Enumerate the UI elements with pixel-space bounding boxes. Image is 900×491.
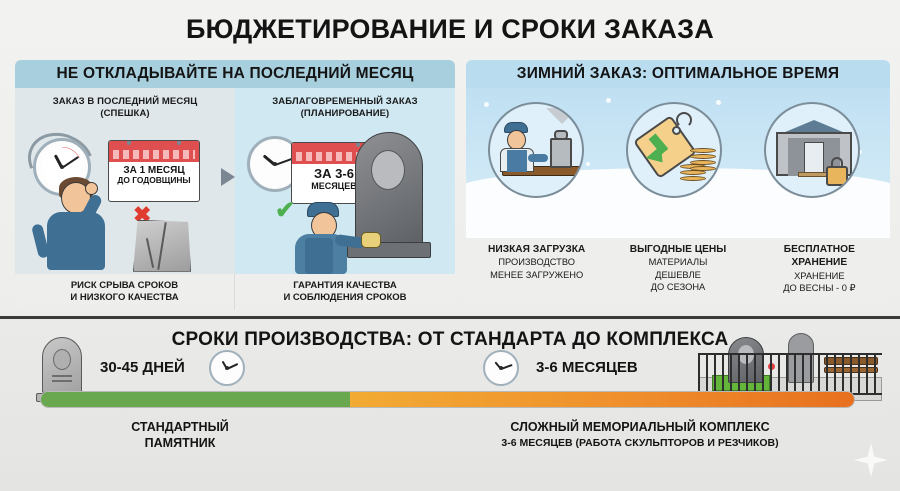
- rush-subtitle-line2: (СПЕШКА): [15, 108, 235, 120]
- calendar-badge-line2: ДО ГОДОВЩИНЫ: [109, 176, 199, 185]
- clock-center: [60, 165, 64, 169]
- planned-subtitle: ЗАБЛАГОВРЕМЕННЫЙ ЗАКАЗ (ПЛАНИРОВАНИЕ): [235, 88, 455, 120]
- benefit-1: НИЗКАЯ ЗАГРУЗКА ПРОИЗВОДСТВО МЕНЕЕ ЗАГРУ…: [466, 238, 607, 310]
- production-timeline-section: СРОКИ ПРОИЗВОДСТВА: ОТ СТАНДАРТА ДО КОМП…: [0, 316, 900, 491]
- planned-subtitle-line1: ЗАБЛАГОВРЕМЕННЫЙ ЗАКАЗ: [235, 96, 455, 108]
- lock-shackle-icon: [831, 157, 843, 167]
- rush-subtitle-line1: ЗАКАЗ В ПОСЛЕДНИЙ МЕСЯЦ: [15, 96, 235, 108]
- panel-do-not-delay: НЕ ОТКЛАДЫВАЙТЕ НА ПОСЛЕДНИЙ МЕСЯЦ ЗАКАЗ…: [15, 60, 455, 310]
- stored-monument: [804, 142, 824, 174]
- benefit-3: БЕСПЛАТНОЕ ХРАНЕНИЕ ХРАНЕНИЕ ДО ВЕСНЫ - …: [749, 238, 890, 310]
- timeline-clock-right-icon: [483, 350, 519, 386]
- calendar-ring-left: [127, 140, 131, 145]
- bottom-caption-standard-line2: ПАМЯТНИК: [90, 435, 270, 451]
- timeline-label-standard: 30-45 ДНЕЙ: [100, 359, 185, 376]
- calendar-grid: [113, 150, 195, 159]
- lock-icon: [826, 166, 848, 186]
- lamp-shade-icon: [546, 108, 578, 124]
- panel-left-header: НЕ ОТКЛАДЫВАЙТЕ НА ПОСЛЕДНИЙ МЕСЯЦ: [15, 60, 455, 88]
- benefit-1-line2: МЕНЕЕ ЗАГРУЖЕНО: [490, 270, 583, 280]
- column-rush-order: ЗАКАЗ В ПОСЛЕДНИЙ МЕСЯЦ (СПЕШКА): [15, 88, 235, 310]
- panel-right-header: ЗИМНИЙ ЗАКАЗ: ОПТИМАЛЬНОЕ ВРЕМЯ: [466, 60, 890, 88]
- machine-press: [550, 138, 572, 168]
- standard-monument-line1: [52, 375, 72, 377]
- planned-caption: ГАРАНТИЯ КАЧЕСТВА И СОБЛЮДЕНИЯ СРОКОВ: [235, 274, 455, 310]
- planned-caption-line1: ГАРАНТИЯ КАЧЕСТВА: [283, 280, 406, 292]
- column-planned-order: ЗАБЛАГОВРЕМЕННЫЙ ЗАКАЗ (ПЛАНИРОВАНИЕ): [235, 88, 455, 310]
- coin: [690, 148, 716, 153]
- icon-free-storage: [764, 102, 860, 198]
- timeline-clock-left-icon: [209, 350, 245, 386]
- complex-fence: [698, 353, 882, 395]
- panel-left-body: ЗАКАЗ В ПОСЛЕДНИЙ МЕСЯЦ (СПЕШКА): [15, 88, 455, 310]
- benefit-3-title2: ХРАНЕНИЕ: [749, 256, 890, 269]
- benefit-2-title: ВЫГОДНЫЕ ЦЕНЫ: [607, 243, 748, 256]
- calendar-ring-right: [177, 140, 181, 145]
- benefit-2-line3: ДО СЕЗОНА: [651, 282, 705, 292]
- standard-monument-line2: [52, 380, 72, 382]
- top-panels: НЕ ОТКЛАДЫВАЙТЕ НА ПОСЛЕДНИЙ МЕСЯЦ ЗАКАЗ…: [15, 60, 890, 310]
- circle1-worker-arm: [528, 154, 548, 162]
- rush-caption-line2: И НИЗКОГО КАЧЕСТВА: [70, 292, 178, 304]
- price-tag-string: [676, 112, 692, 128]
- panel-winter-order: ЗИМНИЙ ЗАКАЗ: ОПТИМАЛЬНОЕ ВРЕМЯ: [466, 60, 890, 310]
- timeline-track: [40, 391, 855, 408]
- benefit-3-title: БЕСПЛАТНОЕ: [749, 243, 890, 256]
- snowflake: [484, 102, 489, 107]
- planned-subtitle-line2: (ПЛАНИРОВАНИЕ): [235, 108, 455, 120]
- coin: [690, 160, 716, 165]
- coin: [690, 166, 716, 171]
- benefit-2-line2: ДЕШЕВЛЕ: [655, 270, 701, 280]
- rush-subtitle: ЗАКАЗ В ПОСЛЕДНИЙ МЕСЯЦ (СПЕШКА): [15, 88, 235, 120]
- benefit-3-line1: ХРАНЕНИЕ: [794, 271, 845, 281]
- calendar-1-month: ЗА 1 МЕСЯЦ ДО ГОДОВЩИНЫ: [108, 140, 200, 202]
- person-hand: [85, 182, 98, 195]
- rush-caption-line1: РИСК СРЫВА СРОКОВ: [70, 280, 178, 292]
- coin: [690, 154, 716, 159]
- circle1-worker-head: [507, 130, 526, 150]
- timeline-clock-right-center: [499, 366, 503, 370]
- lamp-cord: [561, 104, 563, 110]
- page-title: БЮДЖЕТИРОВАНИЕ И СРОКИ ЗАКАЗА: [0, 0, 900, 43]
- benefits-captions: НИЗКАЯ ЗАГРУЗКА ПРОИЗВОДСТВО МЕНЕЕ ЗАГРУ…: [466, 238, 890, 310]
- person-torso: [47, 212, 105, 270]
- bottom-caption-standard: СТАНДАРТНЫЙ ПАМЯТНИК: [90, 419, 270, 452]
- worker-overall: [305, 238, 333, 274]
- bottom-caption-complex-line1: СЛОЖНЫЙ МЕМОРИАЛЬНЫЙ КОМПЛЕКС: [440, 419, 840, 436]
- benefit-2-line1: МАТЕРИАЛЫ: [649, 257, 708, 267]
- check-mark-icon: ✔: [275, 196, 295, 225]
- planned-illustration: ЗА 3-6 МЕСЯЦЕВ ✔: [235, 120, 455, 270]
- planned-caption-line2: И СОБЛЮДЕНИЯ СРОКОВ: [283, 292, 406, 304]
- standard-monument-oval: [53, 349, 71, 370]
- calendar-header-band: [109, 141, 199, 163]
- snowflake: [606, 98, 611, 103]
- bottom-caption-standard-line1: СТАНДАРТНЫЙ: [90, 419, 270, 435]
- timeline-label-complex: 3-6 МЕСЯЦЕВ: [536, 359, 638, 376]
- icon-low-workload: [488, 102, 584, 198]
- panel-right-body: НИЗКАЯ ЗАГРУЗКА ПРОИЗВОДСТВО МЕНЕЕ ЗАГРУ…: [466, 88, 890, 310]
- monument-portrait-oval: [371, 150, 405, 190]
- calendar2-ring: [356, 142, 360, 147]
- coin: [680, 176, 706, 181]
- snowflake: [586, 162, 590, 166]
- planning-clock-center: [273, 162, 277, 166]
- sparkle-decoration-icon: [854, 443, 888, 477]
- machine-head: [554, 130, 568, 140]
- timeline-clock-left-center: [225, 366, 229, 370]
- rush-caption: РИСК СРЫВА СРОКОВ И НИЗКОГО КАЧЕСТВА: [15, 274, 235, 310]
- bottom-caption-complex-line2: 3-6 МЕСЯЦЕВ (РАБОТА СКУЛЬПТОРОВ И РЕЗЧИК…: [440, 436, 840, 450]
- rush-illustration: ЗА 1 МЕСЯЦ ДО ГОДОВЩИНЫ ✖: [15, 120, 235, 270]
- price-tag-hole: [672, 126, 681, 135]
- circle1-worker-overall: [507, 150, 527, 172]
- benefit-1-title: НИЗКАЯ ЗАГРУЗКА: [466, 243, 607, 256]
- benefit-2: ВЫГОДНЫЕ ЦЕНЫ МАТЕРИАЛЫ ДЕШЕВЛЕ ДО СЕЗОН…: [607, 238, 748, 310]
- transition-arrow-icon: [221, 168, 235, 186]
- benefit-1-line1: ПРОИЗВОДСТВО: [498, 257, 575, 267]
- track-segment-complex: [350, 392, 854, 407]
- bottom-caption-complex: СЛОЖНЫЙ МЕМОРИАЛЬНЫЙ КОМПЛЕКС 3-6 МЕСЯЦЕ…: [440, 419, 840, 450]
- track-segment-standard: [41, 392, 350, 407]
- icon-better-prices: [626, 102, 722, 198]
- worker-glove: [361, 232, 381, 248]
- calendar-badge-text: ЗА 1 МЕСЯЦ ДО ГОДОВЩИНЫ: [109, 162, 199, 185]
- benefit-3-line2: ДО ВЕСНЫ - 0 ₽: [783, 283, 855, 293]
- snowflake: [716, 100, 721, 105]
